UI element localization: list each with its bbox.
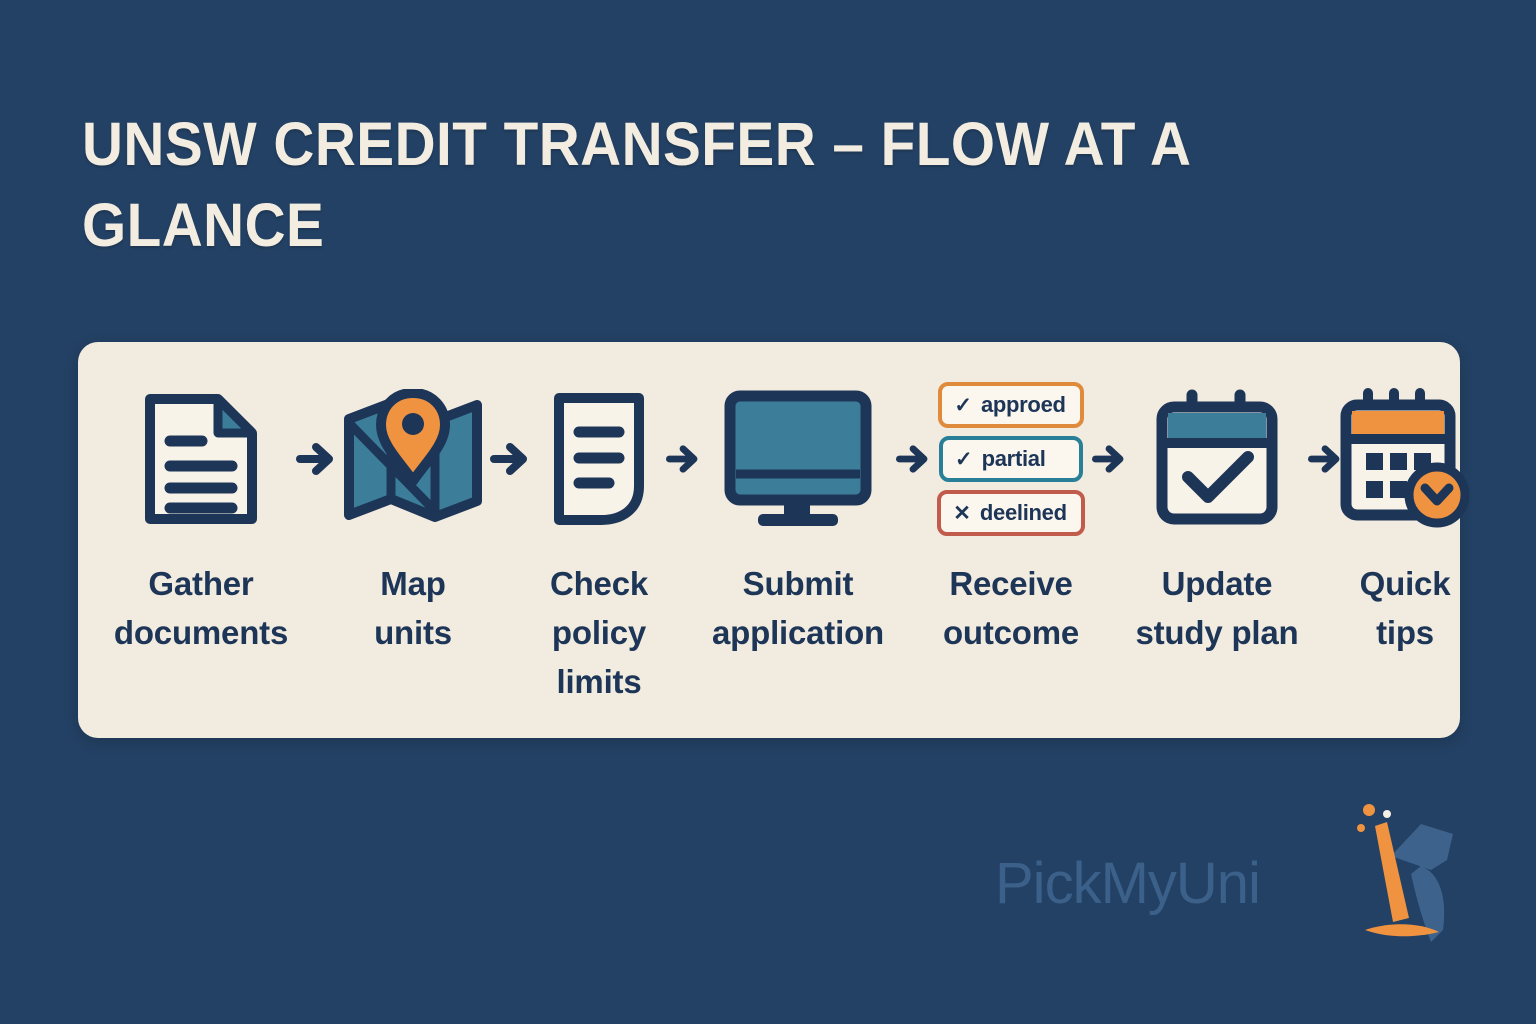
- status-badge-label: approed: [981, 392, 1066, 418]
- outcome-badges-icon: ✓ approed ✓ partial ✕ deelined: [937, 384, 1084, 534]
- flow-step-label: Submit application: [700, 560, 896, 658]
- check-icon: ✓: [955, 449, 973, 470]
- flow-step-check: Check policy limits: [532, 384, 666, 706]
- outcome-badge-stack: ✓ approed ✓ partial ✕ deelined: [937, 382, 1084, 536]
- page-title: UNSW CREDIT TRANSFER – FLOW AT A GLANCE: [82, 104, 1310, 265]
- flow-step-map: Map units: [338, 384, 488, 658]
- flow-step-label: Quick tips: [1342, 560, 1468, 658]
- arrow-right-icon: [666, 384, 700, 534]
- flow-step-label: Check policy limits: [532, 560, 666, 706]
- arrow-right-icon: [896, 384, 930, 534]
- graduate-wand-logo-icon: [1335, 800, 1475, 955]
- status-badge-partial: ✓ partial: [939, 436, 1083, 482]
- map-pin-icon: [339, 384, 487, 534]
- flow-step-label: Gather documents: [108, 560, 294, 658]
- flow-step-label: Map units: [338, 560, 488, 658]
- cross-icon: ✕: [953, 503, 971, 524]
- check-icon: ✓: [954, 395, 972, 416]
- arrow-right-icon: [294, 384, 338, 534]
- calendar-clock-icon: [1338, 384, 1472, 534]
- flow-step-submit: Submit application: [700, 384, 896, 658]
- status-badge-approved: ✓ approed: [938, 382, 1083, 428]
- monitor-icon: [722, 384, 874, 534]
- arrow-right-icon: [1308, 384, 1342, 534]
- flow-step-label: Update study plan: [1126, 560, 1308, 658]
- status-badge-label: partial: [982, 446, 1046, 472]
- flow-step-update: Update study plan: [1126, 384, 1308, 658]
- status-badge-declined: ✕ deelined: [937, 490, 1084, 536]
- flow-step-quick: Quick tips: [1342, 384, 1468, 658]
- flow-step-gather: Gather documents: [108, 384, 294, 658]
- flow-step-label: Receive outcome: [930, 560, 1092, 658]
- flow-step-receive: ✓ approed ✓ partial ✕ deelined Receive o…: [930, 384, 1092, 658]
- calendar-check-icon: [1154, 384, 1280, 534]
- document-icon: [140, 384, 262, 534]
- arrow-right-icon: [1092, 384, 1126, 534]
- flow-card: Gather documents Map units: [78, 342, 1460, 738]
- status-badge-label: deelined: [980, 500, 1067, 526]
- policy-sheet-icon: [547, 384, 651, 534]
- watermark: PickMyUni: [995, 818, 1415, 948]
- arrow-right-icon: [488, 384, 532, 534]
- watermark-text: PickMyUni: [995, 850, 1260, 917]
